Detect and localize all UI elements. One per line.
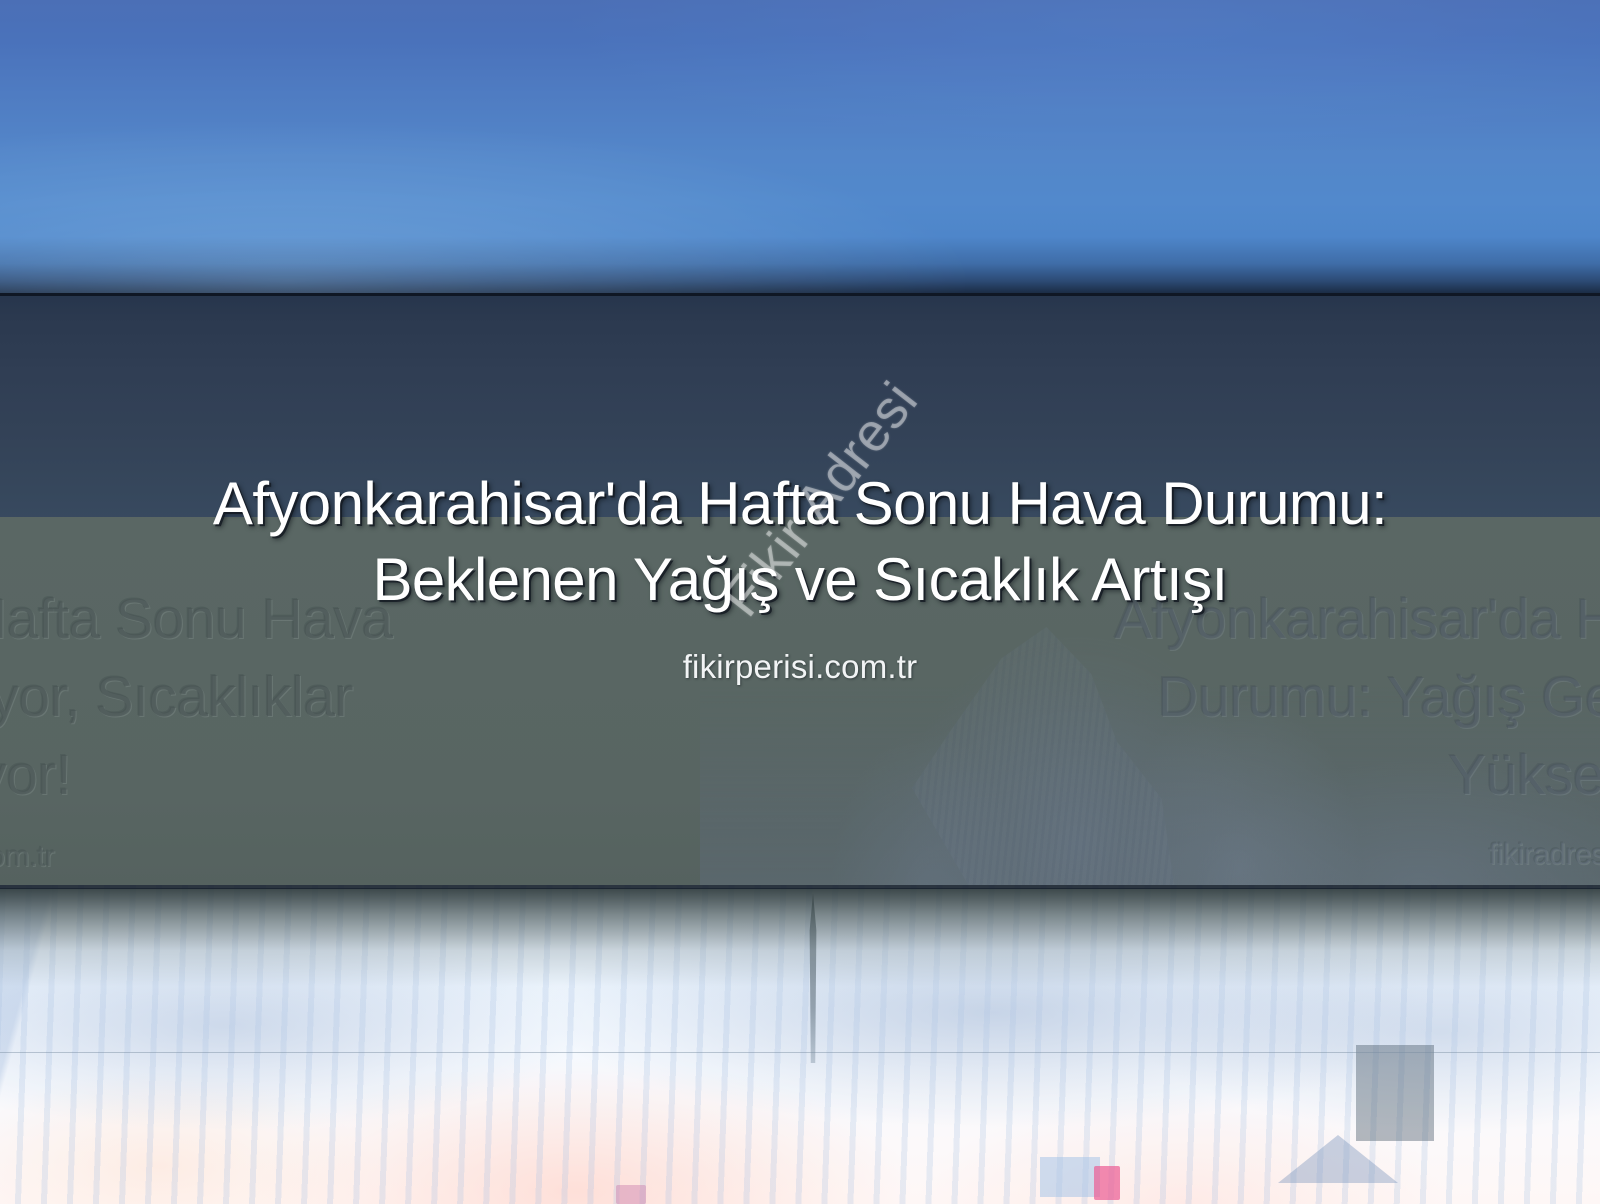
cityscape-photo (0, 885, 1600, 1204)
sky-gradient-layer (0, 0, 1600, 296)
cityscape-sign-blue (1040, 1157, 1100, 1197)
cityscape-sign-pink (1094, 1166, 1120, 1200)
cityscape-top-haze (0, 888, 1600, 1008)
page-title: Afyonkarahisar'da Hafta Sonu Hava Durumu… (0, 466, 1600, 618)
cityscape-dark-building (1356, 1045, 1434, 1141)
hero-card: Hafta Sonu Hava liyor, Sıcaklıklar iyor!… (0, 0, 1600, 1204)
cityscape-wire-line (0, 1052, 1600, 1053)
cityscape-sign-magenta (616, 1185, 646, 1204)
sky-haze (0, 0, 1600, 296)
cityscape-separator-line (0, 885, 1600, 889)
site-url-label: fikirperisi.com.tr (0, 648, 1600, 686)
